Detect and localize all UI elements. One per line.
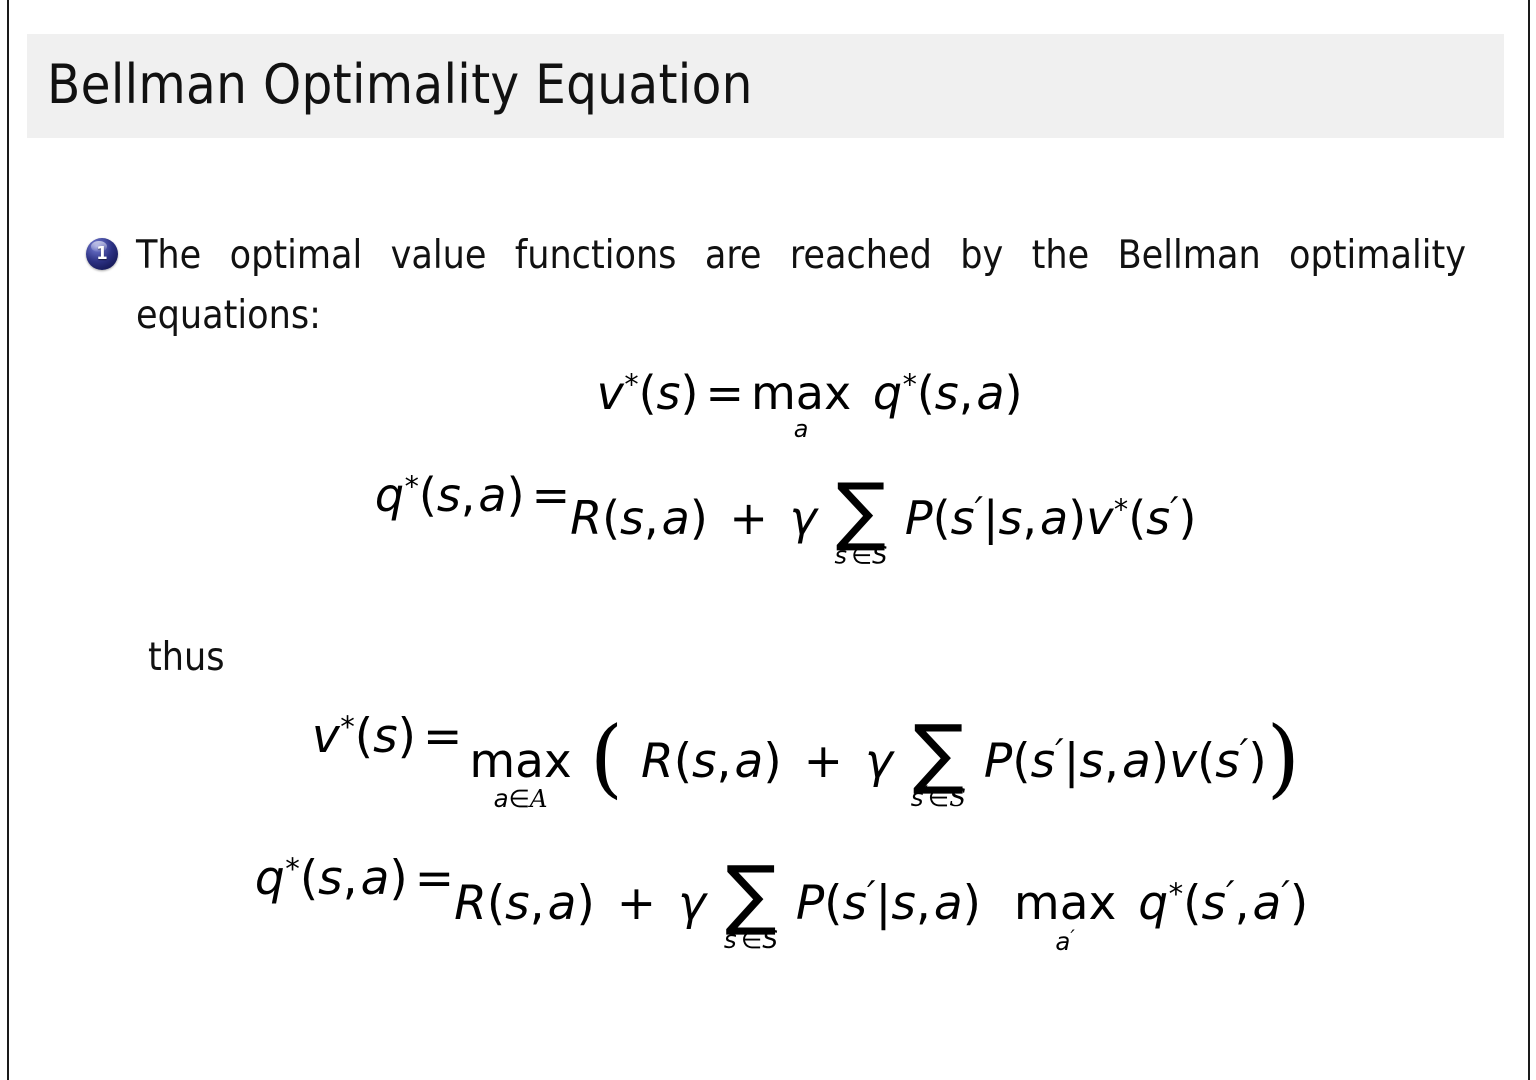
- equation-group-2: v*(s) = max a∈A ( R(s,a) + γ ∑ s′∈S: [0, 713, 1536, 958]
- summation-operator: ∑ s′∈S: [724, 849, 778, 953]
- max-operator: max a: [751, 370, 851, 442]
- list-item: 1 The optimal value functions are reache…: [86, 226, 1466, 347]
- slide-title: Bellman Optimality Equation: [47, 53, 753, 116]
- equation-rhs: R(s,a) + γ ∑ s′∈S P(s′|s,a)v*(s′): [570, 472, 1196, 574]
- bullet-text: The optimal value functions are reached …: [136, 226, 1466, 347]
- equation-lhs: q*(s,a): [340, 472, 525, 518]
- equation-lhs: v*(s): [236, 713, 416, 760]
- connector-text: thus: [148, 635, 225, 680]
- equation-rhs: R(s,a) + γ ∑ s′∈S P(s′|s,a) max a′ q*(s′…: [454, 855, 1308, 959]
- summation-operator: ∑ s′∈S: [834, 466, 887, 568]
- equation-rhs: max a q*(s,a): [751, 370, 1023, 442]
- equation-q-star: q*(s,a) = R(s,a) + γ ∑ s′∈S P(s′|s,a)v*(…: [0, 472, 1536, 574]
- bullet-number: 1: [86, 238, 118, 270]
- max-operator: max a∈A: [469, 738, 571, 812]
- equation-relation: =: [423, 713, 462, 760]
- equation-lhs: q*(s,a): [228, 855, 408, 902]
- equation-rhs: max a∈A ( R(s,a) + γ ∑ s′∈S P(s′|s,a)v(s…: [469, 713, 1300, 817]
- slide-title-bar: Bellman Optimality Equation: [27, 34, 1504, 138]
- equation-lhs: v*(s): [513, 370, 698, 416]
- equation-relation: =: [415, 855, 454, 902]
- slide-canvas: Bellman Optimality Equation 1 The optima…: [0, 0, 1536, 1080]
- equation-v-star: v*(s) = max a q*(s,a): [0, 370, 1536, 442]
- equation-q-star-expanded: q*(s,a) = R(s,a) + γ ∑ s′∈S P(s′|s,a) ma…: [0, 855, 1536, 959]
- numbered-ball-icon: 1: [86, 238, 118, 270]
- slide-body: 1 The optimal value functions are reache…: [0, 138, 1536, 1080]
- summation-operator: ∑ s′∈S: [911, 707, 966, 811]
- max-operator: max a′: [1014, 880, 1116, 955]
- equation-relation: =: [532, 472, 571, 518]
- equation-v-star-expanded: v*(s) = max a∈A ( R(s,a) + γ ∑ s′∈S: [0, 713, 1536, 817]
- equation-group-1: v*(s) = max a q*(s,a) q*(s,a) =: [0, 370, 1536, 574]
- equation-relation: =: [705, 370, 744, 416]
